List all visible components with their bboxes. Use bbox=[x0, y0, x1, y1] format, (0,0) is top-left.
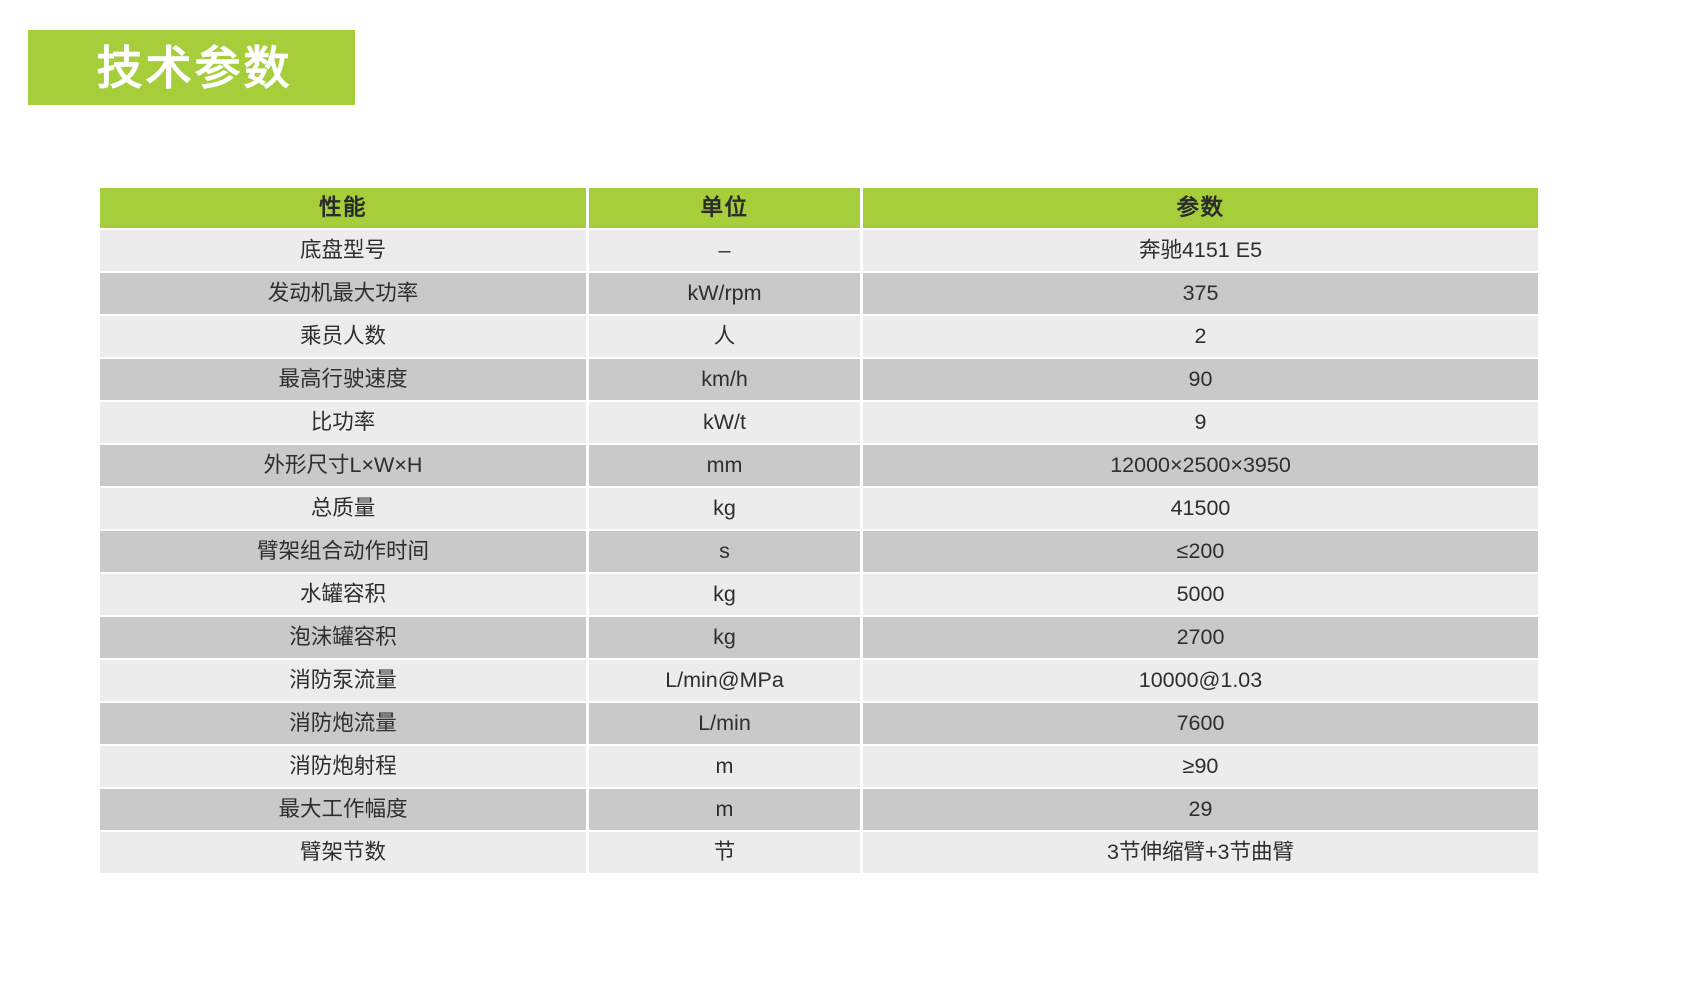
cell-performance: 发动机最大功率 bbox=[100, 273, 586, 314]
cell-parameter: 12000×2500×3950 bbox=[863, 445, 1538, 486]
table-row: 消防炮射程m≥90 bbox=[100, 746, 1538, 787]
cell-unit: 人 bbox=[589, 316, 860, 357]
cell-parameter: 41500 bbox=[863, 488, 1538, 529]
cell-parameter: 奔驰4151 E5 bbox=[863, 230, 1538, 271]
cell-performance: 水罐容积 bbox=[100, 574, 586, 615]
cell-performance: 乘员人数 bbox=[100, 316, 586, 357]
cell-parameter: 2 bbox=[863, 316, 1538, 357]
page-title-badge: 技术参数 bbox=[28, 30, 355, 105]
cell-performance: 消防炮射程 bbox=[100, 746, 586, 787]
cell-unit: 节 bbox=[589, 832, 860, 873]
cell-parameter: 7600 bbox=[863, 703, 1538, 744]
cell-unit: s bbox=[589, 531, 860, 572]
cell-unit: kW/t bbox=[589, 402, 860, 443]
cell-performance: 外形尺寸L×W×H bbox=[100, 445, 586, 486]
cell-unit: m bbox=[589, 746, 860, 787]
technical-parameters-table: 性能 单位 参数 底盘型号–奔驰4151 E5发动机最大功率kW/rpm375乘… bbox=[100, 188, 1538, 873]
cell-unit: kW/rpm bbox=[589, 273, 860, 314]
cell-performance: 消防炮流量 bbox=[100, 703, 586, 744]
page-title: 技术参数 bbox=[91, 45, 293, 91]
table-row: 比功率kW/t9 bbox=[100, 402, 1538, 443]
cell-performance: 臂架组合动作时间 bbox=[100, 531, 586, 572]
column-header-unit: 单位 bbox=[589, 188, 860, 228]
page-root: 技术参数 性能 单位 参数 底盘型号–奔驰4151 E5发动机最大功率kW/rp… bbox=[0, 0, 1708, 1000]
cell-parameter: 2700 bbox=[863, 617, 1538, 658]
column-header-parameter: 参数 bbox=[863, 188, 1538, 228]
cell-unit: m bbox=[589, 789, 860, 830]
cell-performance: 底盘型号 bbox=[100, 230, 586, 271]
table-row: 最高行驶速度km/h90 bbox=[100, 359, 1538, 400]
table-row: 底盘型号–奔驰4151 E5 bbox=[100, 230, 1538, 271]
cell-performance: 最大工作幅度 bbox=[100, 789, 586, 830]
cell-parameter: 9 bbox=[863, 402, 1538, 443]
table-row: 最大工作幅度m29 bbox=[100, 789, 1538, 830]
cell-unit: kg bbox=[589, 488, 860, 529]
cell-unit: kg bbox=[589, 574, 860, 615]
table-row: 乘员人数人2 bbox=[100, 316, 1538, 357]
table-row: 消防泵流量L/min@MPa10000@1.03 bbox=[100, 660, 1538, 701]
table-row: 发动机最大功率kW/rpm375 bbox=[100, 273, 1538, 314]
cell-parameter: ≤200 bbox=[863, 531, 1538, 572]
cell-parameter: ≥90 bbox=[863, 746, 1538, 787]
cell-unit: kg bbox=[589, 617, 860, 658]
cell-unit: L/min bbox=[589, 703, 860, 744]
table-row: 水罐容积kg5000 bbox=[100, 574, 1538, 615]
cell-performance: 臂架节数 bbox=[100, 832, 586, 873]
cell-parameter: 5000 bbox=[863, 574, 1538, 615]
cell-parameter: 3节伸缩臂+3节曲臂 bbox=[863, 832, 1538, 873]
cell-parameter: 375 bbox=[863, 273, 1538, 314]
table-body: 底盘型号–奔驰4151 E5发动机最大功率kW/rpm375乘员人数人2最高行驶… bbox=[100, 230, 1538, 873]
cell-parameter: 90 bbox=[863, 359, 1538, 400]
table-row: 臂架节数节3节伸缩臂+3节曲臂 bbox=[100, 832, 1538, 873]
column-header-performance: 性能 bbox=[100, 188, 586, 228]
cell-performance: 泡沫罐容积 bbox=[100, 617, 586, 658]
cell-performance: 比功率 bbox=[100, 402, 586, 443]
cell-parameter: 10000@1.03 bbox=[863, 660, 1538, 701]
table-row: 消防炮流量L/min7600 bbox=[100, 703, 1538, 744]
table-row: 泡沫罐容积kg2700 bbox=[100, 617, 1538, 658]
cell-unit: L/min@MPa bbox=[589, 660, 860, 701]
table-row: 外形尺寸L×W×Hmm12000×2500×3950 bbox=[100, 445, 1538, 486]
table-row: 臂架组合动作时间s≤200 bbox=[100, 531, 1538, 572]
table-header-row: 性能 单位 参数 bbox=[100, 188, 1538, 228]
cell-unit: km/h bbox=[589, 359, 860, 400]
cell-parameter: 29 bbox=[863, 789, 1538, 830]
cell-unit: – bbox=[589, 230, 860, 271]
cell-performance: 最高行驶速度 bbox=[100, 359, 586, 400]
cell-unit: mm bbox=[589, 445, 860, 486]
cell-performance: 消防泵流量 bbox=[100, 660, 586, 701]
table-row: 总质量kg41500 bbox=[100, 488, 1538, 529]
cell-performance: 总质量 bbox=[100, 488, 586, 529]
